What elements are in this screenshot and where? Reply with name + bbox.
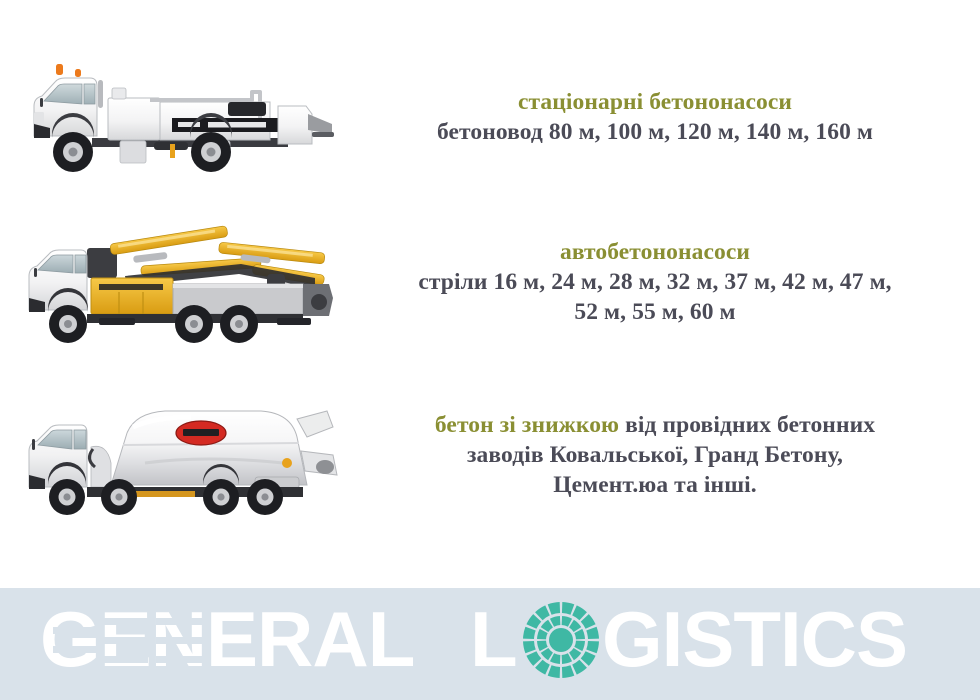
outrigger-front: [99, 318, 135, 325]
detail-boom-pumps-line1: стріли 16 м, 24 м, 28 м, 32 м, 37 м, 42 …: [360, 267, 950, 297]
side-mirror: [40, 98, 43, 107]
rear-outlet-pipe: [312, 132, 334, 137]
poster-canvas: стаціонарні бетононасоси бетоновод 80 м,…: [0, 0, 980, 700]
heading-stationary-pumps: стаціонарні бетононасоси: [360, 87, 950, 117]
emblem-segment: [586, 641, 599, 653]
product-row-discount-concrete: бетон зі знижкою від провідних бетонних …: [0, 385, 980, 525]
emblem-segment: [586, 627, 599, 639]
logistics-wheel-emblem: [523, 602, 599, 678]
concrete-mixer-truck-illustration: [15, 393, 345, 517]
cab-step: [34, 112, 44, 124]
product-row-boom-pumps: автобетононасоси стріли 16 м, 24 м, 28 м…: [0, 212, 980, 352]
product-text-discount-concrete: бетон зі знижкою від провідних бетонних …: [360, 410, 980, 500]
product-text-stationary-pumps: стаціонарні бетононасоси бетоновод 80 м,…: [360, 87, 980, 147]
pump-housing: [91, 278, 173, 314]
wheel-rear-1: [203, 479, 239, 515]
beacon-light-left: [56, 64, 63, 75]
detail-boom-pumps-line2: 52 м, 55 м, 60 м: [360, 297, 950, 327]
emblem-segment: [541, 648, 553, 660]
wheel-rear-2: [247, 479, 283, 515]
wheel-front-1: [49, 479, 85, 515]
drum-brand-badge: [176, 421, 226, 445]
cab-side-window: [75, 255, 86, 273]
emblem-segment: [562, 665, 574, 678]
logo-word-general: GENERAL: [40, 602, 414, 683]
stationary-concrete-pump-truck-illustration: [20, 58, 340, 176]
chute-outlet: [316, 460, 334, 474]
product-text-boom-pumps: автобетононасоси стріли 16 м, 24 м, 28 м…: [360, 237, 980, 327]
beacon-light-right: [75, 69, 81, 77]
wheel-rear-2: [220, 305, 258, 343]
logo-lockup: GENERAL L GISTICS: [0, 588, 980, 700]
detail-discount-line3: Цемент.юа та інші.: [360, 470, 950, 500]
wheel-rear-1: [175, 305, 213, 343]
outrigger-marker: [170, 144, 175, 158]
detail-discount-line1-rest: від провідних бетонних: [619, 412, 875, 438]
warning-lamp: [282, 458, 292, 468]
side-mirror: [34, 268, 37, 277]
wheel-front: [49, 305, 87, 343]
truck-mounted-boom-pump-illustration: [15, 218, 345, 346]
footer-brand-band: GENERAL L GISTICS: [0, 588, 980, 700]
detail-stationary-pumps: бетоновод 80 м, 100 м, 120 м, 140 м, 160…: [360, 117, 950, 147]
side-mirror: [32, 439, 35, 450]
discharge-chute: [297, 411, 333, 437]
chassis-stripe: [135, 491, 195, 497]
emblem-segment: [523, 641, 536, 653]
cab-side-window: [74, 430, 86, 449]
emblem-segment: [569, 620, 581, 632]
hopper-agitator: [311, 294, 327, 310]
logo-letter-l: L: [470, 602, 518, 683]
control-box: [112, 88, 126, 99]
wheel-rear: [191, 132, 231, 172]
rear-pump-unit: [278, 106, 312, 144]
detail-discount-line1: бетон зі знижкою від провідних бетонних: [360, 410, 950, 440]
brand-mark-small: [178, 122, 200, 127]
deck-top-rail: [173, 284, 303, 288]
cab-side-window: [84, 84, 95, 104]
emblem-segment: [541, 620, 553, 632]
wheel-front: [53, 132, 93, 172]
emblem-segment: [523, 627, 536, 639]
toolbox-left: [120, 141, 146, 163]
brand-wordmark: [208, 122, 266, 128]
wheel-front-2: [101, 479, 137, 515]
general-logistics-logo: GENERAL L GISTICS: [40, 602, 940, 686]
hopper-housing: [108, 98, 160, 140]
vehicle-image-mixer-truck: [0, 393, 360, 517]
emblem-segment: [569, 648, 581, 660]
vehicle-image-stationary-pump: [0, 58, 360, 176]
boom-cylinder-1: [133, 252, 168, 263]
emblem-segment: [548, 602, 560, 615]
vehicle-image-boom-pump: [0, 218, 360, 346]
heading-discount-concrete: бетон зі знижкою: [435, 412, 619, 438]
brand-wordmark: [99, 284, 163, 290]
emblem-segment: [562, 602, 574, 615]
outrigger-rear: [277, 318, 311, 325]
logo-word-gistics: GISTICS: [602, 602, 907, 683]
emblem-center-disc: [549, 628, 573, 652]
exhaust-stack: [98, 80, 103, 108]
hydraulic-tank: [228, 102, 266, 116]
heading-boom-pumps: автобетононасоси: [360, 237, 950, 267]
emblem-segment: [548, 665, 560, 678]
product-row-stationary-pumps: стаціонарні бетононасоси бетоновод 80 м,…: [0, 52, 980, 182]
detail-discount-line2: заводів Ковальської, Гранд Бетону,: [360, 440, 950, 470]
